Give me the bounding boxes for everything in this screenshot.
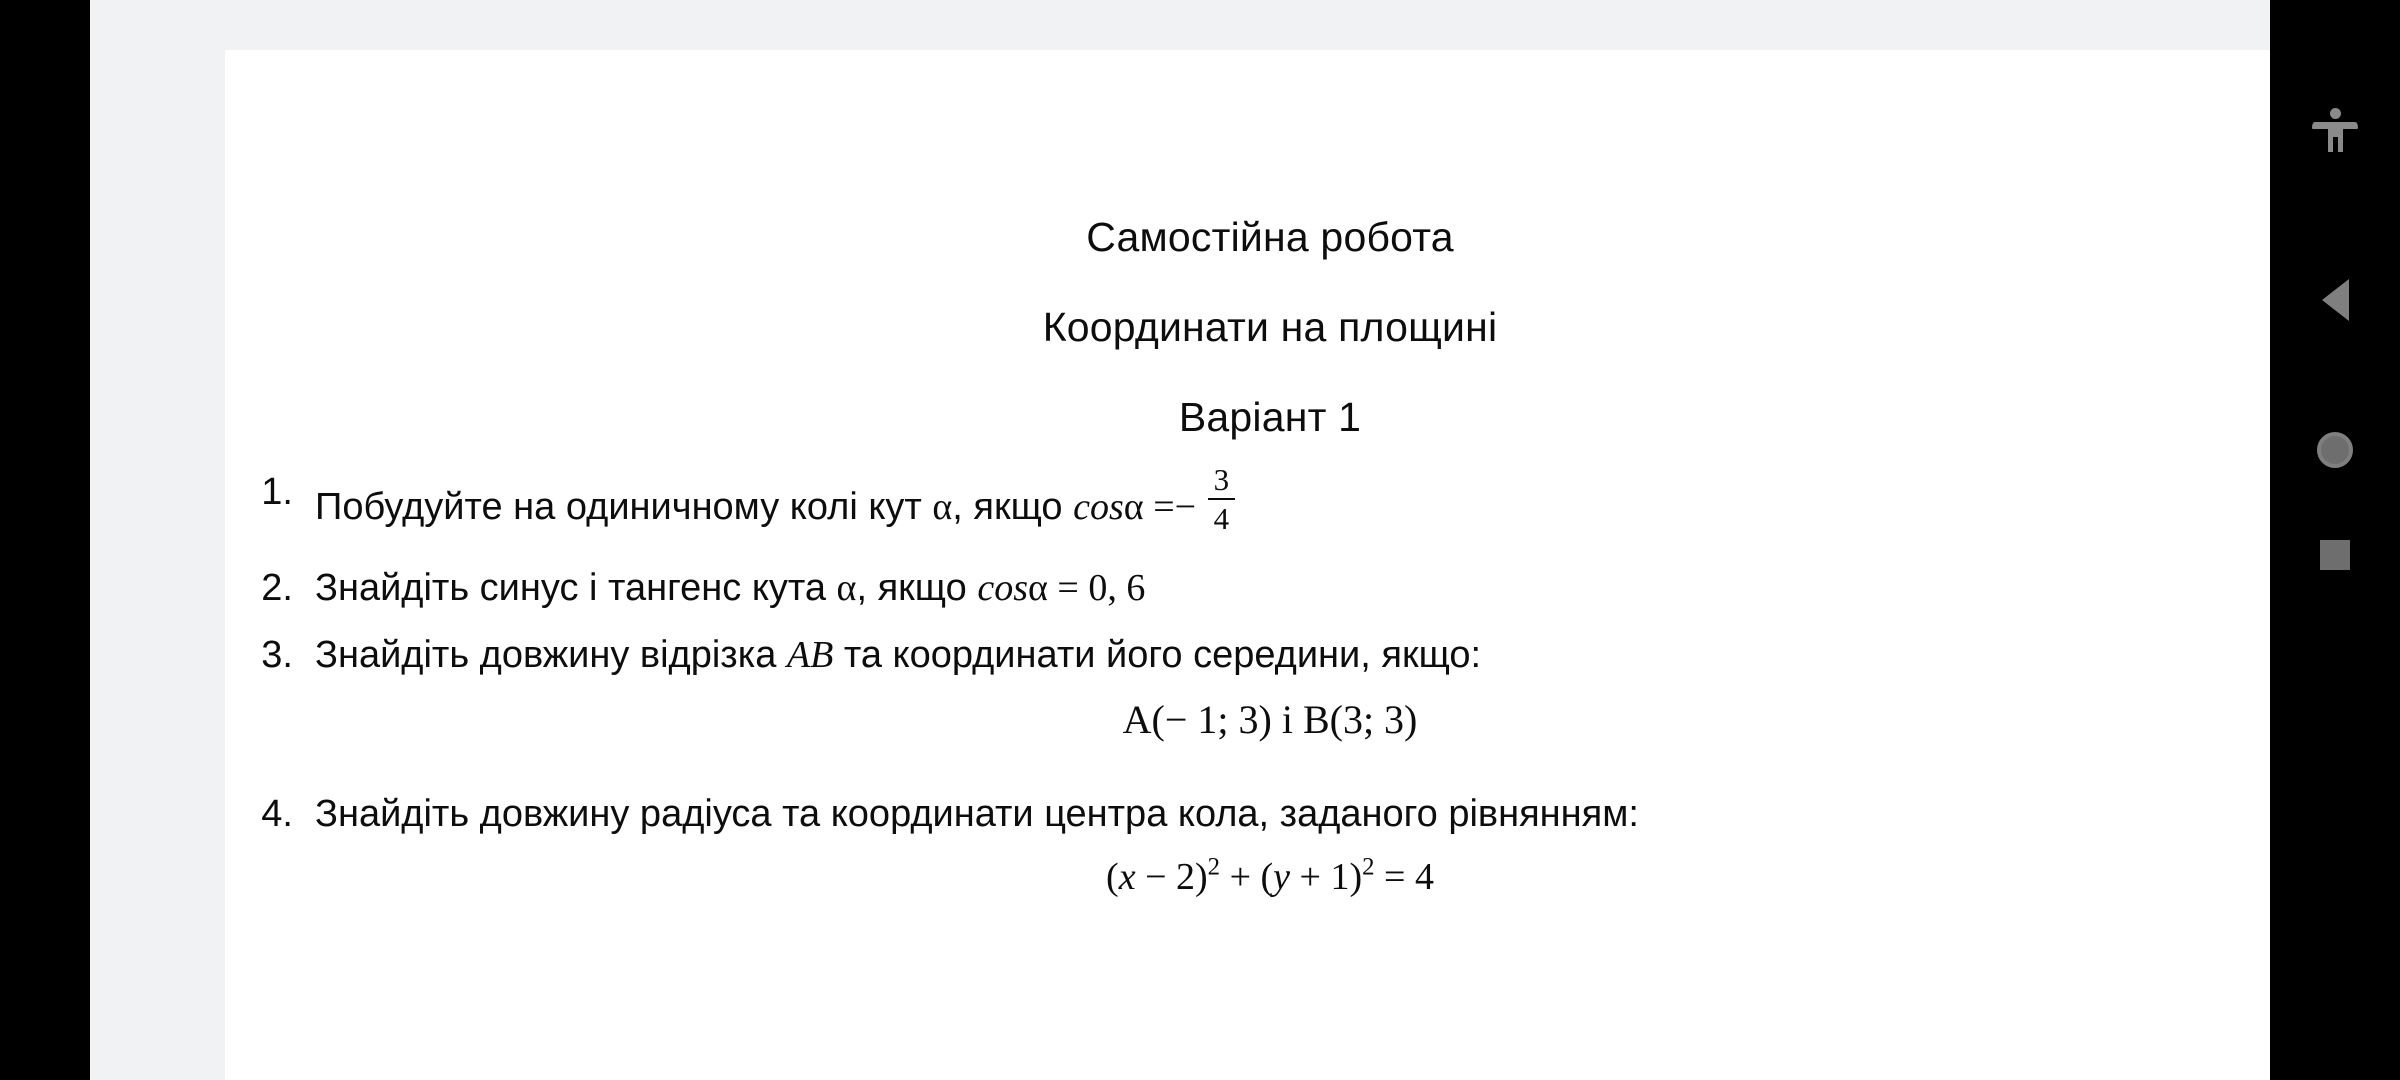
eq-op-plus-1: + bbox=[1220, 856, 1260, 898]
task-item-4: 4. Знайдіть довжину радіуса та координат… bbox=[225, 792, 2315, 837]
home-icon bbox=[2317, 432, 2353, 468]
eq-op-minus: − bbox=[1136, 856, 1176, 898]
task-3-text-before: Знайдіть довжину відрізка bbox=[315, 634, 787, 676]
fraction-denominator: 4 bbox=[1208, 501, 1236, 534]
eq-open-paren-2: ( bbox=[1261, 856, 1274, 898]
task-2-value: 0, 6 bbox=[1088, 567, 1145, 609]
document-page[interactable]: Самостійна робота Координати на площині … bbox=[225, 50, 2315, 1080]
task-1-relation: =− bbox=[1144, 486, 1206, 528]
accessibility-icon-leg-left bbox=[2328, 136, 2333, 152]
device-screen: Самостійна робота Координати на площині … bbox=[0, 0, 2400, 1080]
task-number-2: 2. bbox=[225, 566, 315, 611]
accessibility-icon-torso bbox=[2328, 122, 2343, 137]
eq-num-1: 1 bbox=[1330, 856, 1349, 898]
eq-open-paren-1: ( bbox=[1106, 856, 1119, 898]
task-number-1: 1. bbox=[225, 470, 315, 515]
task-1-text-before: Побудуйте на одиничному колі кут bbox=[315, 486, 932, 528]
eq-power-2: 2 bbox=[1362, 854, 1374, 881]
fraction-three-quarters: 3 4 bbox=[1208, 464, 1236, 534]
app-surface: Самостійна робота Координати на площині … bbox=[90, 0, 2270, 1080]
task-item-3: 3. Знайдіть довжину відрізка AB та коорд… bbox=[225, 633, 2315, 678]
task-4-equation-line: (x − 2)2 + (y + 1)2 = 4 bbox=[225, 852, 2315, 901]
eq-equals: = bbox=[1375, 856, 1415, 898]
recents-icon bbox=[2320, 540, 2350, 570]
back-button[interactable] bbox=[2270, 250, 2400, 350]
task-text-2: Знайдіть синус і тангенс кута α, якщо co… bbox=[315, 566, 1145, 611]
eq-var-y: y bbox=[1273, 856, 1290, 898]
task-1-alpha: α bbox=[932, 486, 952, 528]
task-list: 1. Побудуйте на одиничному колі кут α, я… bbox=[225, 470, 2315, 901]
fraction-numerator: 3 bbox=[1208, 464, 1236, 497]
fraction-bar bbox=[1208, 498, 1236, 500]
task-number-3: 3. bbox=[225, 633, 315, 678]
eq-close-paren-2: ) bbox=[1349, 856, 1362, 898]
eq-power-1: 2 bbox=[1208, 854, 1220, 881]
task-2-text-middle: , якщо bbox=[856, 567, 977, 609]
accessibility-icon bbox=[2311, 106, 2359, 154]
document-heading-main: Самостійна робота bbox=[225, 214, 2315, 261]
back-icon bbox=[2322, 279, 2349, 321]
task-item-1: 1. Побудуйте на одиничному колі кут α, я… bbox=[225, 470, 2315, 532]
task-2-text-before: Знайдіть синус і тангенс кута bbox=[315, 567, 837, 609]
task-2-alpha: α bbox=[837, 567, 857, 609]
eq-num-2: 2 bbox=[1176, 856, 1195, 898]
document-heading-variant: Варіант 1 bbox=[225, 394, 2315, 441]
home-button[interactable] bbox=[2270, 400, 2400, 500]
task-text-4: Знайдіть довжину радіуса та координати ц… bbox=[315, 792, 1639, 837]
task-1-cos: cos bbox=[1073, 486, 1124, 528]
recents-button[interactable] bbox=[2270, 505, 2400, 605]
eq-result: 4 bbox=[1415, 856, 1434, 898]
task-3-text-after: та координати його середини, якщо: bbox=[833, 634, 1481, 676]
document-heading-topic: Координати на площині bbox=[225, 304, 2315, 351]
accessibility-button[interactable] bbox=[2270, 80, 2400, 180]
task-2-relation: = bbox=[1048, 567, 1088, 609]
eq-close-paren-1: ) bbox=[1195, 856, 1208, 898]
task-text-1: Побудуйте на одиничному колі кут α, якщо… bbox=[315, 470, 1237, 540]
task-1-cos-alpha: α bbox=[1124, 486, 1144, 528]
task-item-2: 2. Знайдіть синус і тангенс кута α, якщо… bbox=[225, 566, 2315, 611]
task-1-text-middle: , якщо bbox=[952, 486, 1073, 528]
task-2-cos-alpha: α bbox=[1028, 567, 1048, 609]
accessibility-icon-leg-right bbox=[2338, 136, 2343, 152]
eq-op-plus-2: + bbox=[1290, 856, 1330, 898]
task-3-segment-ab: AB bbox=[787, 634, 833, 676]
task-text-3: Знайдіть довжину відрізка AB та координа… bbox=[315, 633, 1481, 678]
navigation-bar bbox=[2270, 0, 2400, 1080]
task-3-points-line: A(− 1; 3) і B(3; 3) bbox=[225, 696, 2315, 744]
task-2-cos: cos bbox=[977, 567, 1028, 609]
accessibility-icon-head bbox=[2330, 108, 2341, 119]
eq-var-x: x bbox=[1119, 856, 1136, 898]
task-number-4: 4. bbox=[225, 792, 315, 837]
document-body: Самостійна робота Координати на площині … bbox=[225, 50, 2315, 1080]
